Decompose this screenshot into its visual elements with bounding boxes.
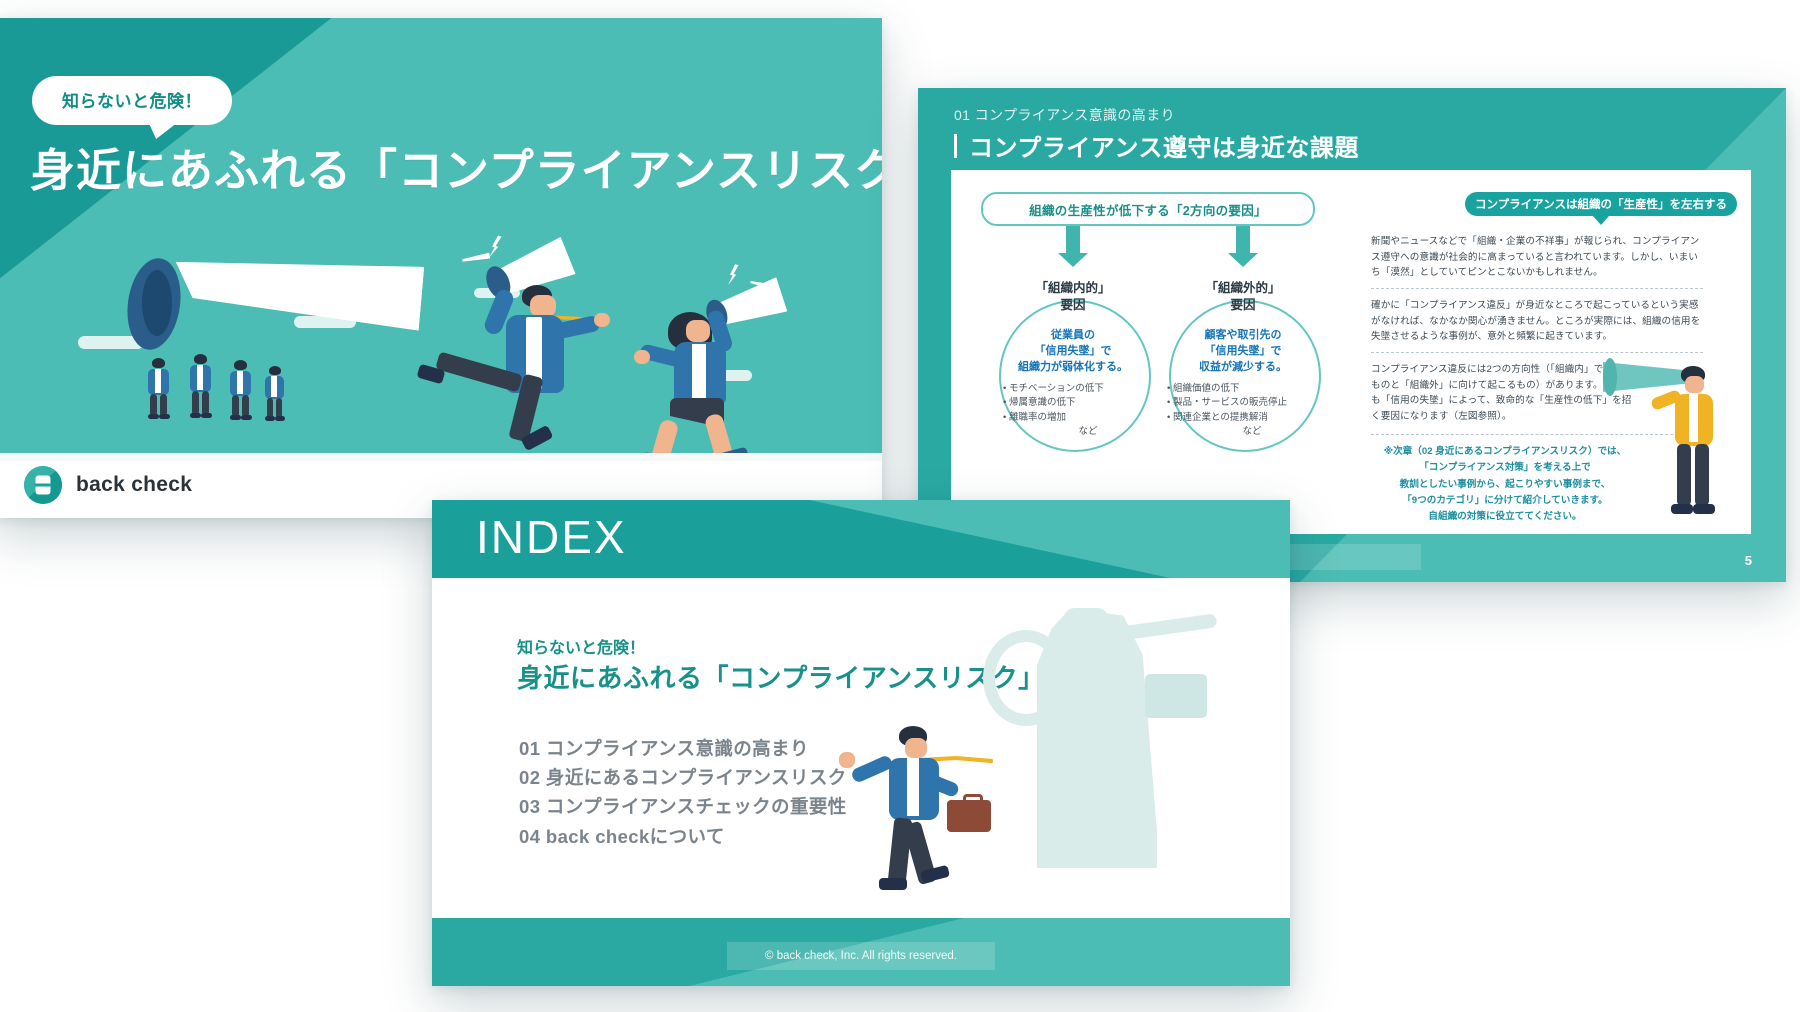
woman-with-megaphone: [634, 286, 814, 466]
panel-banner: コンプライアンスは組織の「生産性」を左右する: [1465, 192, 1737, 216]
index-item[interactable]: 02 身近にあるコンプライアンスリスク: [519, 763, 847, 792]
factor-etc-internal: など: [1003, 425, 1173, 439]
factor-lead-internal: 従業員の 「信用失墜」で 組織力が弱体化する。: [993, 328, 1153, 376]
cover-badge: 知らないと危険！: [32, 76, 232, 125]
factor-etc-external: など: [1167, 425, 1337, 439]
index-item[interactable]: 01 コンプライアンス意識の高まり: [519, 734, 847, 763]
index-item[interactable]: 04 back checkについて: [519, 822, 847, 851]
factor-bullets-external: • 組織価値の低下 • 製品・サービスの販売停止 • 関連企業との提携解消 など: [1167, 382, 1337, 439]
diagram-pill: 組織の生産性が低下する「2方向の要因」: [981, 192, 1315, 226]
factor-lead-external: 顧客や取引先の 「信用失墜」で 収益が減少する。: [1163, 328, 1323, 376]
large-megaphone-illustration: [122, 250, 422, 370]
index-item-list: 01 コンプライアンス意識の高まり 02 身近にあるコンプライアンスリスク 03…: [519, 734, 847, 851]
arrow-down-icon: [1066, 226, 1080, 254]
index-item[interactable]: 03 コンプライアンスチェックの重要性: [519, 792, 847, 821]
index-card: 知らないと危険！ 身近にあふれる「コンプライアンスリスク」 01 コンプライアン…: [467, 586, 1255, 916]
crowd-person: [144, 358, 174, 420]
crowd-person: [262, 366, 290, 424]
slide-index[interactable]: INDEX 知らないと危険！ 身近にあふれる「コンプライアンスリスク」 01 コ…: [432, 500, 1290, 986]
panel-divider: [1371, 434, 1703, 435]
content-page-number: 5: [1745, 553, 1752, 568]
index-heading: 身近にあふれる「コンプライアンスリスク」: [517, 658, 1045, 695]
cover-ground-line: [0, 453, 882, 461]
factor-head-internal: 「組織内的」 要因: [993, 280, 1153, 314]
slide-stack: 知らないと危険！ 身近にあふれる「コンプライアンスリスク」 back check…: [0, 0, 1800, 1012]
brand-name: back check: [76, 473, 192, 497]
man-with-megaphone: [464, 263, 654, 453]
panel-paragraph-3: コンプライアンス違反には2つの方向性（「組織内」で起こるものと「組織外」に向けて…: [1371, 362, 1641, 424]
standing-man-illustration: [1665, 366, 1723, 526]
index-kicker: 知らないと危険！: [517, 634, 645, 658]
arrow-down-icon: [1236, 226, 1250, 254]
content-title-text: コンプライアンス遵守は身近な課題: [969, 128, 1359, 163]
title-accent-bar: [954, 134, 957, 158]
panel-note: ※次章（02 身近にあるコンプライアンスリスク）では、 「コンプライアンス対策」…: [1355, 444, 1655, 525]
content-title: コンプライアンス遵守は身近な課題: [954, 128, 1359, 163]
content-eyebrow: 01 コンプライアンス意識の高まり: [954, 105, 1175, 125]
index-title: INDEX: [476, 510, 627, 564]
panel-paragraph-2: 確かに「コンプライアンス違反」が身近なところで起こっているという実感がなければ、…: [1371, 298, 1703, 345]
walking-man-illustration: [865, 726, 995, 906]
panel-divider: [1371, 352, 1703, 353]
index-footer: © back check, Inc. All rights reserved.: [727, 942, 995, 970]
crowd-person: [226, 360, 256, 422]
factor-bullets-internal: • モチベーションの低下 • 帰属意識の低下 • 離職率の増加 など: [1003, 382, 1173, 439]
back-check-logo-icon: [24, 466, 62, 504]
content-card: 組織の生産性が低下する「2方向の要因」 「組織内的」 要因 従業員の 「信用失墜…: [951, 170, 1751, 534]
brand-logo[interactable]: back check: [24, 466, 192, 504]
panel-divider: [1371, 288, 1703, 289]
shadow-detective-illustration: [967, 608, 1217, 888]
slide-cover[interactable]: 知らないと危険！ 身近にあふれる「コンプライアンスリスク」 back check: [0, 18, 882, 518]
panel-paragraph-1: 新聞やニュースなどで「組織・企業の不祥事」が報じられ、コンプライアンス遵守への意…: [1371, 234, 1703, 281]
crowd-person: [186, 354, 216, 420]
cover-title: 身近にあふれる「コンプライアンスリスク」: [30, 134, 882, 199]
factor-head-external: 「組織外的」 要因: [1163, 280, 1323, 314]
